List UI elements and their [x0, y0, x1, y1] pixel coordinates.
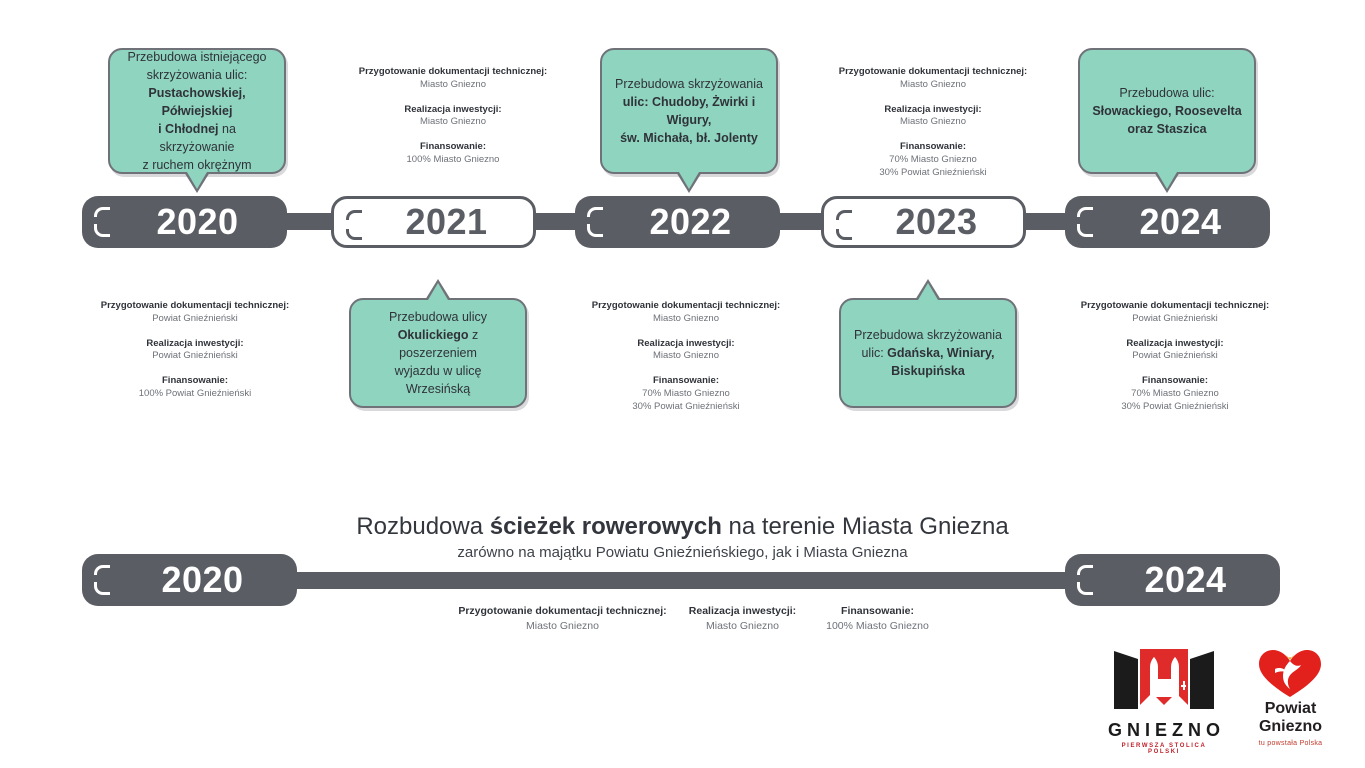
- funding-2020-financing-label: Finansowanie:: [80, 375, 310, 388]
- bubble-2023-line1: Przebudowa skrzyżowania: [854, 328, 1002, 342]
- funding-2023-financing-value-2: 30% Powiat Gnieźnieński: [818, 167, 1048, 180]
- funding-2024-financing-value-2: 30% Powiat Gnieźnieński: [1060, 401, 1290, 414]
- infographic-canvas: Przebudowa istniejącego skrzyżowania uli…: [0, 0, 1365, 768]
- funding-2024-financing-value-1: 70% Miasto Gniezno: [1060, 388, 1290, 401]
- bubble-2022-line1: Przebudowa skrzyżowania: [615, 77, 763, 91]
- bottom-funding-prep-value: Miasto Gniezno: [450, 619, 675, 634]
- bubble-2020-line3: Pustachowskiej, Półwiejskiej: [148, 86, 245, 118]
- funding-2021-prep-label: Przygotowanie dokumentacji technicznej:: [338, 66, 568, 79]
- funding-2021-prep: Przygotowanie dokumentacji technicznej: …: [338, 66, 568, 92]
- funding-2021-financing: Finansowanie: 100% Miasto Gniezno: [338, 141, 568, 167]
- gniezno-gate-icon: [1108, 645, 1220, 715]
- funding-2023: Przygotowanie dokumentacji technicznej: …: [818, 66, 1048, 180]
- funding-2024-financing: Finansowanie: 70% Miasto Gniezno 30% Pow…: [1060, 375, 1290, 413]
- year-pill-2022[interactable]: 2022: [575, 196, 780, 248]
- bottom-end-year: 2024: [1118, 562, 1226, 598]
- year-pill-2023[interactable]: 2023: [821, 196, 1026, 248]
- bubble-2023-line3: Biskupińska: [891, 364, 965, 378]
- connector-bottom-bar: [290, 572, 1080, 589]
- funding-2020-financing: Finansowanie: 100% Powiat Gnieźnieński: [80, 375, 310, 401]
- funding-2021-realization: Realizacja inwestycji: Miasto Gniezno: [338, 104, 568, 130]
- bubble-2022: Przebudowa skrzyżowania ulic: Chudoby, Ż…: [600, 48, 778, 174]
- funding-2022-realization: Realizacja inwestycji: Miasto Gniezno: [571, 338, 801, 364]
- bubble-2022-line3: św. Michała, bł. Jolenty: [620, 131, 758, 145]
- funding-2021-realization-value: Miasto Gniezno: [338, 116, 568, 129]
- bubble-2020-line4-bold: i Chłodnej: [158, 122, 218, 136]
- funding-2022-prep-value: Miasto Gniezno: [571, 313, 801, 326]
- bubble-2020: Przebudowa istniejącego skrzyżowania uli…: [108, 48, 286, 174]
- year-label-2024: 2024: [1113, 204, 1221, 240]
- funding-2020: Przygotowanie dokumentacji technicznej: …: [80, 300, 310, 401]
- funding-2022-financing-label: Finansowanie:: [571, 375, 801, 388]
- powiat-logo: Powiat Gniezno tu powstała Polska: [1243, 645, 1338, 740]
- funding-2023-realization-label: Realizacja inwestycji:: [818, 104, 1048, 117]
- bubble-2024: Przebudowa ulic: Słowackiego, Roosevelta…: [1078, 48, 1256, 174]
- funding-2022-realization-label: Realizacja inwestycji:: [571, 338, 801, 351]
- funding-2024-financing-label: Finansowanie:: [1060, 375, 1290, 388]
- funding-2024: Przygotowanie dokumentacji technicznej: …: [1060, 300, 1290, 414]
- powiat-logo-line1: Powiat: [1243, 700, 1338, 718]
- gniezno-logo-tagline: PIERWSZA STOLICA POLSKI: [1108, 743, 1220, 755]
- bottom-funding-financing-value: 100% Miasto Gniezno: [810, 619, 945, 634]
- bottom-funding-financing-label: Finansowanie:: [810, 604, 945, 619]
- funding-2021-prep-value: Miasto Gniezno: [338, 79, 568, 92]
- bracket-gap: [587, 217, 593, 224]
- bubble-2020-line5: z ruchem okrężnym: [142, 158, 251, 172]
- bubble-2021-line1: Przebudowa ulicy: [389, 310, 487, 324]
- funding-2022-financing: Finansowanie: 70% Miasto Gniezno 30% Pow…: [571, 375, 801, 413]
- bubble-2024-line1: Przebudowa ulic:: [1119, 86, 1214, 100]
- funding-2022-prep: Przygotowanie dokumentacji technicznej: …: [571, 300, 801, 326]
- funding-2023-realization-value: Miasto Gniezno: [818, 116, 1048, 129]
- gniezno-logo-name: GNIEZNO: [1108, 720, 1220, 741]
- bottom-title-part2: na terenie Miasta Gniezna: [722, 513, 1009, 540]
- funding-2022-financing-value-1: 70% Miasto Gniezno: [571, 388, 801, 401]
- funding-2023-prep-label: Przygotowanie dokumentacji technicznej:: [818, 66, 1048, 79]
- funding-2024-prep: Przygotowanie dokumentacji technicznej: …: [1060, 300, 1290, 326]
- year-label-2020: 2020: [130, 204, 238, 240]
- funding-2021-financing-label: Finansowanie:: [338, 141, 568, 154]
- funding-2021: Przygotowanie dokumentacji technicznej: …: [338, 66, 568, 167]
- funding-2022-financing-value-2: 30% Powiat Gnieźnieński: [571, 401, 801, 414]
- gniezno-logo: GNIEZNO PIERWSZA STOLICA POLSKI: [1108, 645, 1220, 740]
- funding-2023-prep-value: Miasto Gniezno: [818, 79, 1048, 92]
- year-pill-2021[interactable]: 2021: [331, 196, 536, 248]
- funding-2023-realization: Realizacja inwestycji: Miasto Gniezno: [818, 104, 1048, 130]
- funding-2022: Przygotowanie dokumentacji technicznej: …: [571, 300, 801, 414]
- year-pill-2024[interactable]: 2024: [1065, 196, 1270, 248]
- year-label-2023: 2023: [869, 204, 977, 240]
- bottom-funding-financing: Finansowanie: 100% Miasto Gniezno: [810, 604, 945, 633]
- bottom-funding-row: Przygotowanie dokumentacji technicznej: …: [450, 604, 945, 633]
- funding-2022-realization-value: Miasto Gniezno: [571, 350, 801, 363]
- funding-2023-financing-value-1: 70% Miasto Gniezno: [818, 154, 1048, 167]
- bubble-2021-line2-bold: Okulickiego: [398, 328, 469, 342]
- funding-2024-prep-value: Powiat Gnieźnieński: [1060, 313, 1290, 326]
- powiat-logo-line2: Gniezno: [1243, 718, 1338, 736]
- bubble-2020-line2: skrzyżowania ulic:: [147, 68, 248, 82]
- funding-2023-financing: Finansowanie: 70% Miasto Gniezno 30% Pow…: [818, 141, 1048, 179]
- bubble-2021-line3: wyjazdu w ulicę Wrzesińską: [395, 364, 482, 396]
- funding-2020-realization-label: Realizacja inwestycji:: [80, 338, 310, 351]
- funding-2024-prep-label: Przygotowanie dokumentacji technicznej:: [1060, 300, 1290, 313]
- bottom-funding-prep-label: Przygotowanie dokumentacji technicznej:: [450, 604, 675, 619]
- bubble-2021: Przebudowa ulicy Okulickiego z poszerzen…: [349, 298, 527, 408]
- bubble-2020-line1: Przebudowa istniejącego: [128, 50, 267, 64]
- bottom-title-bold: ścieżek rowerowych: [490, 513, 722, 540]
- year-pill-2020[interactable]: 2020: [82, 196, 287, 248]
- funding-2024-realization-value: Powiat Gnieźnieński: [1060, 350, 1290, 363]
- bottom-title-part1: Rozbudowa: [356, 513, 489, 540]
- bubble-2024-line2: Słowackiego, Roosevelta: [1092, 104, 1241, 118]
- bracket-gap: [94, 217, 100, 224]
- bubble-2024-line3: oraz Staszica: [1127, 122, 1206, 136]
- bracket-gap: [346, 220, 352, 227]
- funding-2023-financing-label: Finansowanie:: [818, 141, 1048, 154]
- funding-2021-financing-value-1: 100% Miasto Gniezno: [338, 154, 568, 167]
- funding-2020-realization: Realizacja inwestycji: Powiat Gnieźnieńs…: [80, 338, 310, 364]
- bubble-2023-line2-plain: ulic:: [861, 346, 887, 360]
- bracket-gap: [836, 220, 842, 227]
- bottom-funding-realization: Realizacja inwestycji: Miasto Gniezno: [675, 604, 810, 633]
- bracket-gap: [94, 575, 100, 582]
- funding-2020-prep: Przygotowanie dokumentacji technicznej: …: [80, 300, 310, 326]
- bubble-2023: Przebudowa skrzyżowania ulic: Gdańska, W…: [839, 298, 1017, 408]
- funding-2024-realization: Realizacja inwestycji: Powiat Gnieźnieńs…: [1060, 338, 1290, 364]
- bubble-2023-line2-bold: Gdańska, Winiary,: [887, 346, 994, 360]
- bottom-funding-realization-label: Realizacja inwestycji:: [675, 604, 810, 619]
- funding-2020-prep-value: Powiat Gnieźnieński: [80, 313, 310, 326]
- powiat-logo-name: Powiat Gniezno: [1243, 700, 1338, 737]
- bottom-funding-realization-value: Miasto Gniezno: [675, 619, 810, 634]
- funding-2024-realization-label: Realizacja inwestycji:: [1060, 338, 1290, 351]
- year-pill-bottom-2024[interactable]: 2024: [1065, 554, 1280, 606]
- bottom-funding-prep: Przygotowanie dokumentacji technicznej: …: [450, 604, 675, 633]
- bottom-section-title: Rozbudowa ścieżek rowerowych na terenie …: [0, 512, 1365, 542]
- funding-2020-prep-label: Przygotowanie dokumentacji technicznej:: [80, 300, 310, 313]
- bubble-2022-line2: ulic: Chudoby, Żwirki i Wigury,: [623, 95, 755, 127]
- bracket-gap: [1077, 217, 1083, 224]
- year-label-2022: 2022: [623, 204, 731, 240]
- powiat-logo-tagline: tu powstała Polska: [1243, 740, 1338, 747]
- funding-2021-realization-label: Realizacja inwestycji:: [338, 104, 568, 117]
- powiat-heart-eagle-icon: [1243, 645, 1338, 700]
- year-pill-bottom-2020[interactable]: 2020: [82, 554, 297, 606]
- funding-2022-prep-label: Przygotowanie dokumentacji technicznej:: [571, 300, 801, 313]
- funding-2020-realization-value: Powiat Gnieźnieński: [80, 350, 310, 363]
- bottom-start-year: 2020: [135, 562, 243, 598]
- funding-2020-financing-value-1: 100% Powiat Gnieźnieński: [80, 388, 310, 401]
- bracket-gap: [1077, 575, 1083, 582]
- year-label-2021: 2021: [379, 204, 487, 240]
- funding-2023-prep: Przygotowanie dokumentacji technicznej: …: [818, 66, 1048, 92]
